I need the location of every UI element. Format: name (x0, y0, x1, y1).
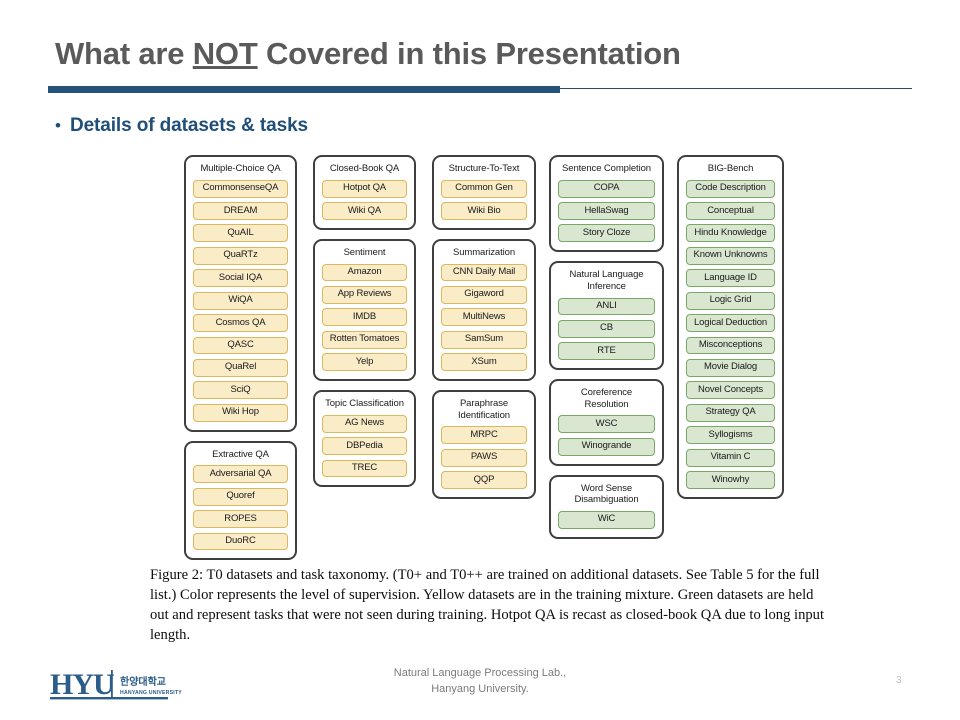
taxonomy-group-title: Natural LanguageInference (558, 269, 655, 292)
title-rule-thick (48, 86, 560, 93)
taxonomy-group-title: Topic Classification (322, 398, 407, 410)
figure-caption: Figure 2: T0 datasets and task taxonomy.… (150, 566, 828, 646)
dataset-chip: Hotpot QA (322, 180, 407, 198)
dataset-chip: Yelp (322, 353, 407, 371)
dataset-chip: QuaRTz (193, 247, 288, 265)
taxonomy-column-1: Multiple-Choice QACommonsenseQADREAMQuAI… (184, 155, 297, 560)
dataset-chip: Syllogisms (686, 426, 775, 444)
taxonomy-group-title: Structure-To-Text (441, 163, 527, 175)
dataset-chip: Cosmos QA (193, 314, 288, 332)
taxonomy-chip-list: CommonsenseQADREAMQuAILQuaRTzSocial IQAW… (193, 180, 288, 422)
taxonomy-chip-list: Common GenWiki Bio (441, 180, 527, 220)
dataset-chip: SciQ (193, 381, 288, 399)
footer-line-1: Natural Language Processing Lab., (0, 666, 960, 682)
dataset-chip: DBPedia (322, 437, 407, 455)
taxonomy-chip-list: Code DescriptionConceptualHindu Knowledg… (686, 180, 775, 489)
dataset-chip: DREAM (193, 202, 288, 220)
taxonomy-group: Word SenseDisambiguationWiC (549, 475, 664, 539)
taxonomy-chip-list: WiC (558, 511, 655, 529)
dataset-chip: Wiki Bio (441, 202, 527, 220)
page-title-pre: What are (55, 36, 193, 71)
taxonomy-group: Multiple-Choice QACommonsenseQADREAMQuAI… (184, 155, 297, 432)
dataset-chip: QQP (441, 471, 527, 489)
taxonomy-group: Structure-To-TextCommon GenWiki Bio (432, 155, 536, 230)
taxonomy-chip-list: WSCWinogrande (558, 415, 655, 455)
footer-affiliation: Natural Language Processing Lab., Hanyan… (0, 666, 960, 698)
dataset-chip: WSC (558, 415, 655, 433)
taxonomy-group: SentimentAmazonApp ReviewsIMDBRotten Tom… (313, 239, 416, 381)
page-title-post: Covered in this Presentation (258, 36, 681, 71)
dataset-chip: Known Unknowns (686, 247, 775, 265)
page-title-emphasis: NOT (193, 36, 258, 71)
dataset-chip: PAWS (441, 449, 527, 467)
dataset-chip: Amazon (322, 264, 407, 282)
bullet-marker-icon: • (55, 117, 61, 134)
taxonomy-group-title: BIG-Bench (686, 163, 775, 175)
dataset-chip: CNN Daily Mail (441, 264, 527, 282)
dataset-chip: ROPES (193, 510, 288, 528)
taxonomy-group: ParaphraseIdentificationMRPCPAWSQQP (432, 390, 536, 499)
dataset-chip: AG News (322, 415, 407, 433)
dataset-chip: Rotten Tomatoes (322, 331, 407, 349)
dataset-chip: CB (558, 320, 655, 338)
taxonomy-column-4: Sentence CompletionCOPAHellaSwagStory Cl… (549, 155, 664, 539)
dataset-chip: COPA (558, 180, 655, 198)
taxonomy-chip-list: ANLICBRTE (558, 298, 655, 361)
dataset-chip: MultiNews (441, 308, 527, 326)
dataset-chip: Language ID (686, 269, 775, 287)
page-title: What are NOT Covered in this Presentatio… (55, 36, 681, 72)
dataset-chip: Winogrande (558, 438, 655, 456)
taxonomy-group: Sentence CompletionCOPAHellaSwagStory Cl… (549, 155, 664, 252)
dataset-chip: Hindu Knowledge (686, 224, 775, 242)
dataset-chip: Novel Concepts (686, 381, 775, 399)
footer-line-2: Hanyang University. (0, 682, 960, 698)
dataset-chip: Strategy QA (686, 404, 775, 422)
dataset-chip: Vitamin C (686, 449, 775, 467)
taxonomy-chip-list: AG NewsDBPediaTREC (322, 415, 407, 478)
taxonomy-group-title: Sentence Completion (558, 163, 655, 175)
taxonomy-group-title: Extractive QA (193, 449, 288, 461)
dataset-chip: QuaRel (193, 359, 288, 377)
taxonomy-group-title: CoreferenceResolution (558, 387, 655, 410)
dataset-chip: Conceptual (686, 202, 775, 220)
taxonomy-chip-list: AmazonApp ReviewsIMDBRotten TomatoesYelp (322, 264, 407, 372)
dataset-chip: WiC (558, 511, 655, 529)
taxonomy-chip-list: Adversarial QAQuorefROPESDuoRC (193, 465, 288, 550)
taxonomy-column-2: Closed-Book QAHotpot QAWiki QASentimentA… (313, 155, 416, 487)
dataset-chip: App Reviews (322, 286, 407, 304)
taxonomy-group: Closed-Book QAHotpot QAWiki QA (313, 155, 416, 230)
taxonomy-group-title: Sentiment (322, 247, 407, 259)
dataset-chip: TREC (322, 460, 407, 478)
taxonomy-group: CoreferenceResolutionWSCWinogrande (549, 379, 664, 466)
bullet-item-label: Details of datasets & tasks (70, 115, 308, 137)
dataset-chip: Winowhy (686, 471, 775, 489)
taxonomy-chip-list: Hotpot QAWiki QA (322, 180, 407, 220)
taxonomy-group-title: Closed-Book QA (322, 163, 407, 175)
dataset-chip: XSum (441, 353, 527, 371)
taxonomy-group: Extractive QAAdversarial QAQuorefROPESDu… (184, 441, 297, 561)
taxonomy-group: SummarizationCNN Daily MailGigawordMulti… (432, 239, 536, 381)
dataset-chip: Misconceptions (686, 337, 775, 355)
taxonomy-group-title: Word SenseDisambiguation (558, 483, 655, 506)
taxonomy-chip-list: CNN Daily MailGigawordMultiNewsSamSumXSu… (441, 264, 527, 372)
dataset-chip: Quoref (193, 488, 288, 506)
dataset-chip: ANLI (558, 298, 655, 316)
taxonomy-group-title: ParaphraseIdentification (441, 398, 527, 421)
taxonomy-group-title: Summarization (441, 247, 527, 259)
dataset-chip: Wiki QA (322, 202, 407, 220)
dataset-chip: Movie Dialog (686, 359, 775, 377)
dataset-chip: Logic Grid (686, 292, 775, 310)
dataset-chip: DuoRC (193, 533, 288, 551)
dataset-chip: RTE (558, 342, 655, 360)
dataset-chip: Code Description (686, 180, 775, 198)
dataset-chip: Social IQA (193, 269, 288, 287)
bullet-item: • Details of datasets & tasks (55, 115, 308, 137)
taxonomy-group-title: Multiple-Choice QA (193, 163, 288, 175)
dataset-chip: IMDB (322, 308, 407, 326)
taxonomy-column-3: Structure-To-TextCommon GenWiki BioSumma… (432, 155, 536, 499)
page-number: 3 (896, 675, 902, 686)
dataset-chip: Story Cloze (558, 224, 655, 242)
taxonomy-figure: Multiple-Choice QACommonsenseQADREAMQuAI… (184, 155, 784, 550)
dataset-chip: CommonsenseQA (193, 180, 288, 198)
dataset-chip: MRPC (441, 426, 527, 444)
dataset-chip: Wiki Hop (193, 404, 288, 422)
taxonomy-chip-list: COPAHellaSwagStory Cloze (558, 180, 655, 243)
taxonomy-group: BIG-BenchCode DescriptionConceptualHindu… (677, 155, 784, 499)
dataset-chip: SamSum (441, 331, 527, 349)
dataset-chip: Adversarial QA (193, 465, 288, 483)
taxonomy-chip-list: MRPCPAWSQQP (441, 426, 527, 489)
dataset-chip: Logical Deduction (686, 314, 775, 332)
taxonomy-group: Topic ClassificationAG NewsDBPediaTREC (313, 390, 416, 487)
dataset-chip: Common Gen (441, 180, 527, 198)
taxonomy-column-5: BIG-BenchCode DescriptionConceptualHindu… (677, 155, 784, 499)
dataset-chip: QuAIL (193, 224, 288, 242)
dataset-chip: QASC (193, 337, 288, 355)
dataset-chip: Gigaword (441, 286, 527, 304)
dataset-chip: WiQA (193, 292, 288, 310)
dataset-chip: HellaSwag (558, 202, 655, 220)
taxonomy-group: Natural LanguageInferenceANLICBRTE (549, 261, 664, 370)
